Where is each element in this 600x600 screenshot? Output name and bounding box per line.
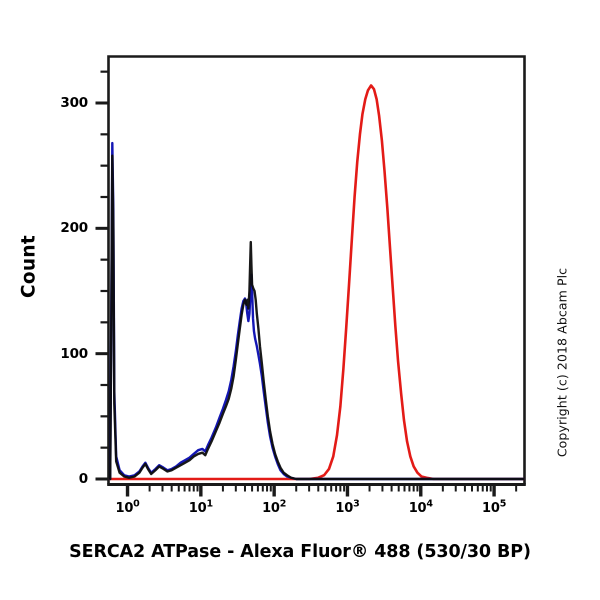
y-axis-title: Count xyxy=(19,217,40,317)
x-axis-title: SERCA2 ATPase - Alexa Fluor® 488 (530/30… xyxy=(0,542,600,562)
y-axis-ticks xyxy=(96,72,109,479)
y-tick-label-300: 300 xyxy=(52,95,88,111)
histogram-curve-isotype-control xyxy=(110,143,523,479)
x-tick-label-1e1: 101 xyxy=(189,501,213,516)
x-tick-label-1e5: 105 xyxy=(482,501,506,516)
histogram-plot xyxy=(0,0,600,600)
histogram-curve-stained-sample xyxy=(110,85,523,479)
x-tick-label-1e0: 100 xyxy=(115,501,139,516)
histogram-curve-unstained-control xyxy=(110,156,523,479)
x-tick-label-1e3: 103 xyxy=(335,501,359,516)
y-tick-label-0: 0 xyxy=(52,471,88,487)
y-tick-label-200: 200 xyxy=(52,220,88,236)
x-tick-label-1e2: 102 xyxy=(262,501,286,516)
x-tick-label-1e4: 104 xyxy=(409,501,433,516)
y-tick-label-100: 100 xyxy=(52,346,88,362)
copyright-notice: Copyright (c) 2018 Abcam Plc xyxy=(555,233,570,493)
flow-cytometry-figure: 300 200 100 0 100101102103104105 Count S… xyxy=(0,0,600,600)
x-axis-ticks xyxy=(128,485,517,497)
plot-frame xyxy=(109,57,525,485)
